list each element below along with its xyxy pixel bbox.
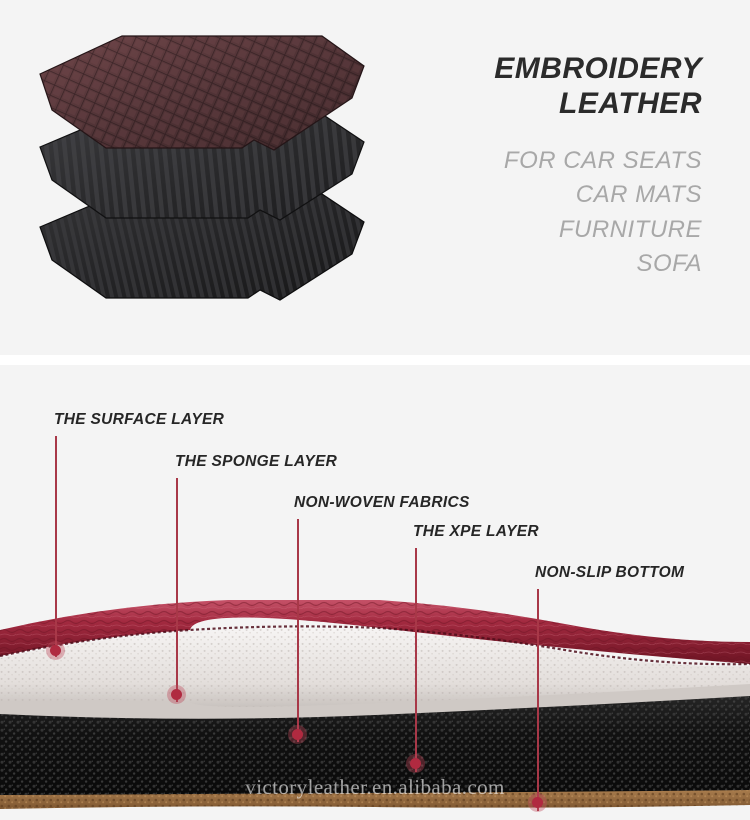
headline-block: EMBROIDERY LEATHER FOR CAR SEATS CAR MAT… bbox=[302, 52, 702, 282]
layer-breakdown-panel: THE SURFACE LAYER THE SPONGE LAYER NON-W… bbox=[0, 365, 750, 820]
callout-label-surface: THE SURFACE LAYER bbox=[54, 411, 224, 429]
leader-line-xpe bbox=[415, 548, 417, 772]
application-item-1: CAR MATS bbox=[302, 178, 702, 213]
leader-line-non-slip bbox=[537, 589, 539, 811]
application-item-0: FOR CAR SEATS bbox=[302, 144, 702, 179]
callout-label-non-woven: NON-WOVEN FABRICS bbox=[294, 494, 470, 512]
callout-label-sponge: THE SPONGE LAYER bbox=[175, 453, 337, 471]
mat-cross-section-photo bbox=[0, 600, 750, 820]
application-item-2: FURNITURE bbox=[302, 213, 702, 248]
callout-label-xpe: THE XPE LAYER bbox=[413, 523, 539, 541]
application-list: FOR CAR SEATS CAR MATS FURNITURE SOFA bbox=[302, 144, 702, 282]
leader-dot-non-woven bbox=[288, 725, 307, 744]
leader-dot-sponge bbox=[167, 685, 186, 704]
leader-dot-surface bbox=[46, 641, 65, 660]
callout-label-non-slip: NON-SLIP BOTTOM bbox=[535, 564, 684, 582]
page-title-line-2: LEATHER bbox=[302, 87, 702, 122]
leader-dot-non-slip bbox=[528, 793, 547, 812]
page-title-line-1: EMBROIDERY bbox=[302, 52, 702, 87]
product-hero-panel: EMBROIDERY LEATHER FOR CAR SEATS CAR MAT… bbox=[0, 0, 750, 355]
leader-line-sponge bbox=[176, 478, 178, 702]
leader-line-non-woven bbox=[297, 519, 299, 742]
leader-dot-xpe bbox=[406, 754, 425, 773]
leader-line-surface bbox=[55, 436, 57, 657]
application-item-3: SOFA bbox=[302, 247, 702, 282]
